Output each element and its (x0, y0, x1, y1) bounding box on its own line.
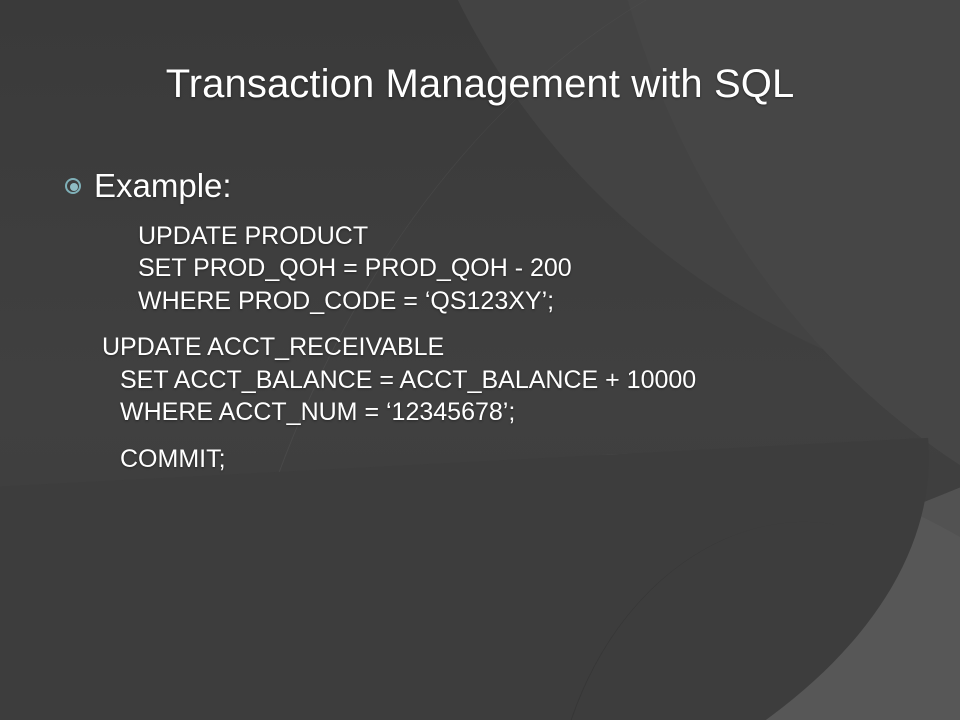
presentation-slide: Transaction Management with SQL Example:… (0, 0, 960, 720)
bullet-item-example: Example: (64, 166, 854, 206)
slide-content: Transaction Management with SQL Example:… (0, 0, 960, 720)
sql-statement-2: UPDATE ACCT_RECEIVABLE SET ACCT_BALANCE … (64, 331, 854, 429)
circled-dot-bullet-icon (64, 177, 84, 197)
page-title: Transaction Management with SQL (60, 62, 900, 107)
bullet-item-label: Example: (94, 166, 232, 206)
sql-statement-1: UPDATE PRODUCT SET PROD_QOH = PROD_QOH -… (64, 220, 854, 318)
sql-statement-commit: COMMIT; (64, 443, 854, 476)
slide-body: Example: UPDATE PRODUCT SET PROD_QOH = P… (64, 166, 854, 475)
